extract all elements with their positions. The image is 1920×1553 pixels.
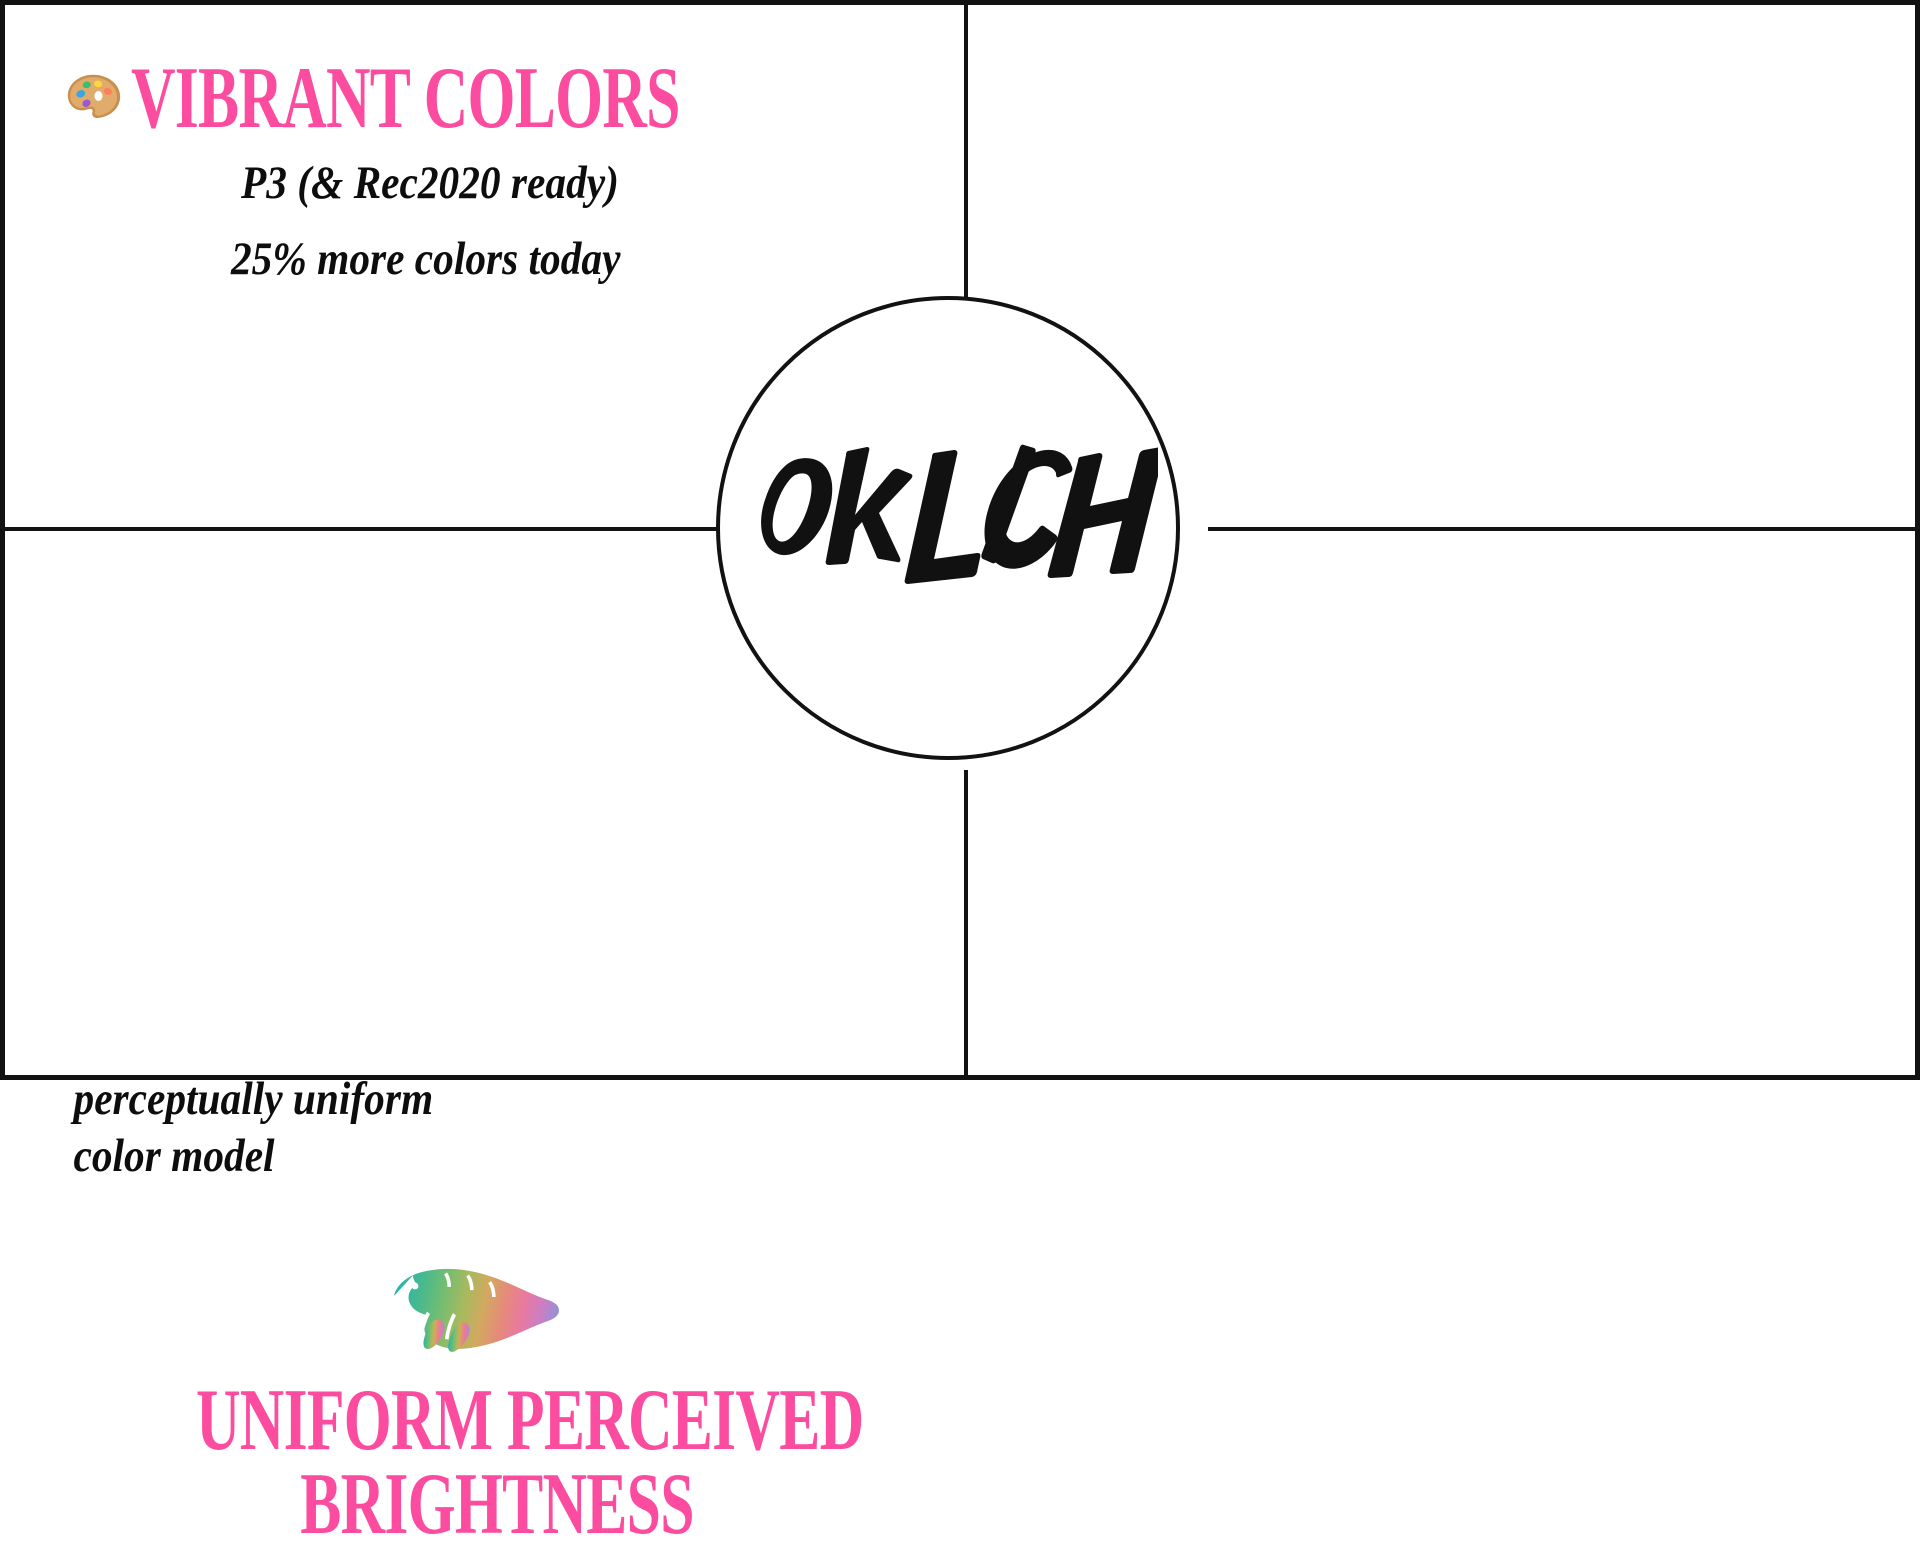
uniform-brightness-heading: UNIFORM PERCEIVED BRIGHTNESS — [67, 1379, 927, 1548]
infographic-canvas: VIBRANT COLORS P3 (& Rec2020 ready) 25% … — [0, 0, 1920, 1080]
gradient-manatee-icon — [373, 1253, 559, 1369]
frame-border-right — [1915, 0, 1920, 1080]
oklch-wordmark — [716, 296, 1180, 760]
uniform-brightness-heading-line-1: UNIFORM PERCEIVED — [196, 1379, 798, 1463]
vibrant-colors-line-2: 25% more colors today — [231, 231, 620, 288]
vibrant-colors-heading: VIBRANT COLORS — [131, 57, 680, 141]
vibrant-colors-heading-row: VIBRANT COLORS — [63, 57, 915, 141]
uniform-brightness-caption: perceptually uniform color model — [49, 1071, 458, 1186]
uniform-brightness-heading-line-2: BRIGHTNESS — [196, 1463, 798, 1547]
uniform-brightness-line-2: color model — [74, 1128, 434, 1185]
artist-palette-icon — [63, 68, 125, 130]
vibrant-colors-line-1: P3 (& Rec2020 ready) — [241, 155, 619, 212]
